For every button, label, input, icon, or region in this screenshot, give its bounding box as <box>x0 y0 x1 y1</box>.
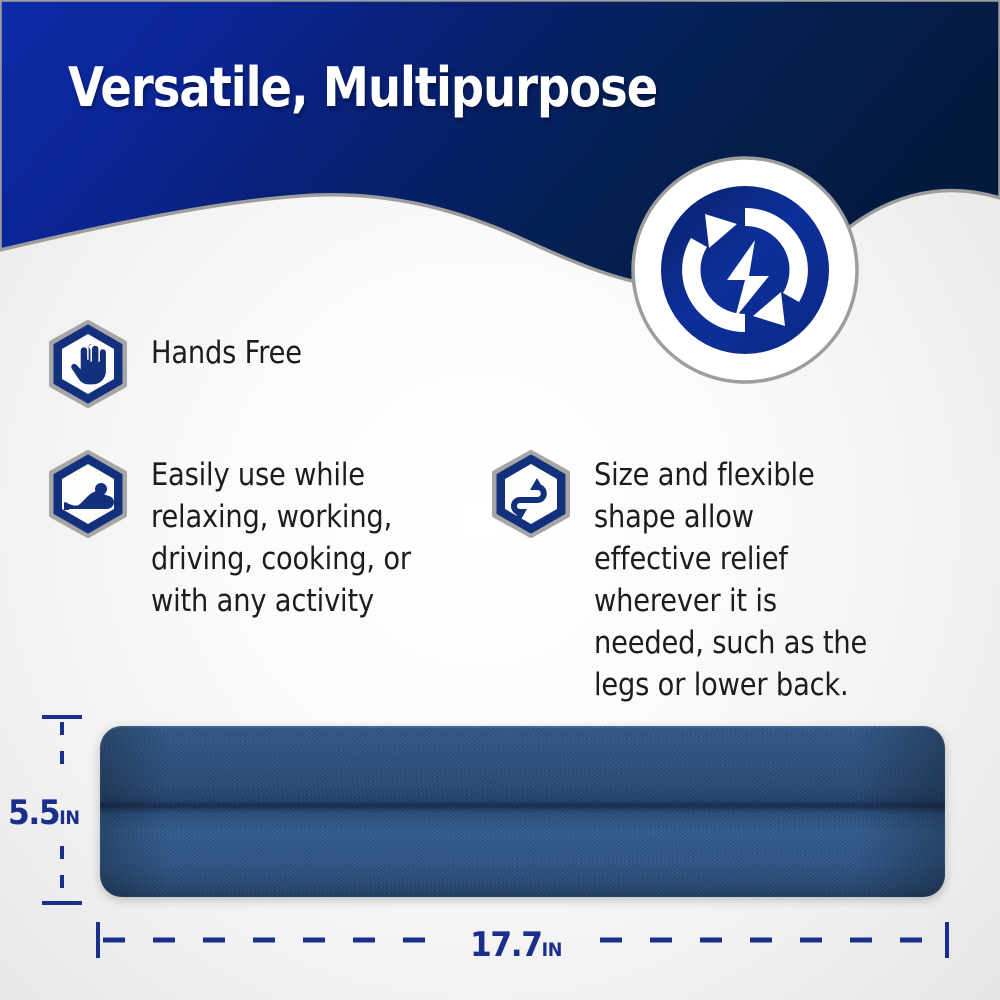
feature-easy-use: Easily use while relaxing, working, driv… <box>47 450 447 622</box>
product-seam <box>100 803 945 810</box>
dimension-width-value: 17.7 <box>470 925 542 965</box>
dimension-height-value: 5.5 <box>8 793 59 833</box>
feature-hands-free: Hands Free <box>47 320 437 408</box>
person-reclining-icon <box>47 450 129 538</box>
dimension-height-label: 5.5IN <box>8 793 80 833</box>
feature-hands-free-label: Hands Free <box>151 320 403 374</box>
dimension-width-unit: IN <box>542 939 562 961</box>
product-image-heating-pad <box>100 726 945 897</box>
feature-flexible-shape: Size and flexible shape allow effective … <box>490 450 910 706</box>
page-title: Versatile, Multipurpose <box>68 57 687 119</box>
dimension-height-unit: IN <box>59 807 79 829</box>
infographic-canvas: Versatile, Multipurpose <box>0 0 1000 1000</box>
dimension-width-label: 17.7IN <box>470 925 562 965</box>
feature-easy-use-label: Easily use while relaxing, working, driv… <box>151 450 411 622</box>
hand-palm-icon <box>47 320 129 408</box>
flexible-s-arrows-icon <box>490 450 572 538</box>
product-shade-left <box>100 726 170 897</box>
feature-flexible-shape-label: Size and flexible shape allow effective … <box>594 450 872 706</box>
product-fabric-texture <box>100 726 945 897</box>
product-shade-right <box>855 726 945 897</box>
refresh-lightning-badge <box>627 152 863 388</box>
